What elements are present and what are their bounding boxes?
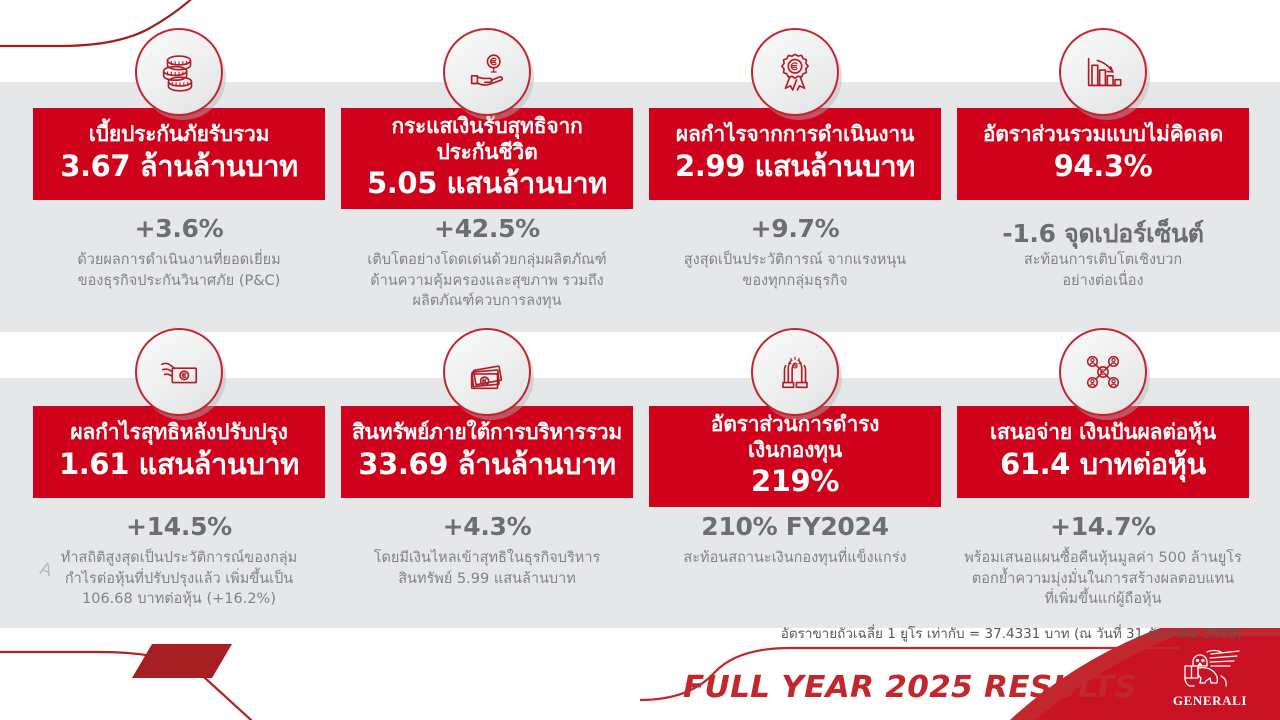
metric-value: 3.67 ล้านล้านบาท [60,149,298,184]
metric-card: ผลกำไรสุทธิหลังปรับปรุง 1.61 แสนล้านบาท … [33,328,325,628]
metrics-row-bottom: ผลกำไรสุทธิหลังปรับปรุง 1.61 แสนล้านบาท … [0,328,1280,628]
metric-delta: +42.5% [341,214,633,243]
metric-note: โดยมีเงินไหลเข้าสุทธิในธุรกิจบริหารสินทร… [341,548,633,589]
metric-headline-box: เบี้ยประกันภัยรับรวม 3.67 ล้านล้านบาท [33,108,325,200]
metric-headline-box: อัตราส่วนรวมแบบไม่คิดลด 94.3% [957,108,1249,200]
generali-wordmark: GENERALI [1173,693,1247,709]
metric-delta: +9.7% [649,214,941,243]
metric-card: เบี้ยประกันภัยรับรวม 3.67 ล้านล้านบาท +3… [33,28,325,328]
metric-title: เสนอจ่าย เงินปันผลต่อหุ้น [990,420,1216,446]
metric-value: 33.69 ล้านล้านบาท [358,447,615,482]
metric-headline-box: เสนอจ่าย เงินปันผลต่อหุ้น 61.4 บาทต่อหุ้… [957,406,1249,498]
metrics-row-top: เบี้ยประกันภัยรับรวม 3.67 ล้านล้านบาท +3… [0,28,1280,328]
exchange-rate-note: อัตราขายถัวเฉลี่ย 1 ยูโร เท่ากับ = 37.43… [781,622,1242,644]
metric-card: กระแสเงินรับสุทธิจากประกันชีวิต 5.05 แสน… [341,28,633,328]
metric-card: สินทรัพย์ภายใต้การบริหารรวม 33.69 ล้านล้… [341,328,633,628]
metric-note: สะท้อนสถานะเงินกองทุนที่แข็งแกร่ง [649,548,941,569]
declining-bar-chart-icon [1059,28,1147,116]
metric-value: 61.4 บาทต่อหุ้น [1000,447,1206,482]
metric-card: เสนอจ่าย เงินปันผลต่อหุ้น 61.4 บาทต่อหุ้… [957,328,1249,628]
metric-note: เติบโตอย่างโดดเด่นด้วยกลุ่มผลิตภัณฑ์ด้าน… [341,250,633,312]
metric-delta: +3.6% [33,214,325,243]
metric-value: 1.61 แสนล้านบาท [59,447,299,482]
metric-note: ทำสถิติสูงสุดเป็นประวัติการณ์ของกลุ่มกำไ… [33,548,325,610]
metric-card: อัตราส่วนการดำรงเงินกองทุน 219% 210% FY2… [649,328,941,628]
metric-card: ผลกำไรจากการดำเนินงาน 2.99 แสนล้านบาท +9… [649,28,941,328]
metric-value: 219% [751,464,839,499]
award-ribbon-euro-icon [751,28,839,116]
metric-delta: +14.7% [957,512,1249,541]
hand-euro-coin-icon [443,28,531,116]
winged-lion-icon [1177,648,1243,692]
metric-value: 94.3% [1054,149,1153,184]
metric-note: ด้วยผลการดำเนินงานที่ยอดเยี่ยมของธุรกิจป… [33,250,325,291]
metric-title: ผลกำไรสุทธิหลังปรับปรุง [70,420,287,446]
metric-headline-box: ผลกำไรจากการดำเนินงาน 2.99 แสนล้านบาท [649,108,941,200]
metric-title: อัตราส่วนการดำรงเงินกองทุน [711,412,879,463]
metric-delta: +4.3% [341,512,633,541]
metric-card: อัตราส่วนรวมแบบไม่คิดลด 94.3% -1.6 จุดเป… [957,28,1249,328]
metric-title: ผลกำไรจากการดำเนินงาน [676,122,914,148]
metric-value: 2.99 แสนล้านบาท [675,149,915,184]
stacked-coins-icon [135,28,223,116]
metric-title: สินทรัพย์ภายใต้การบริหารรวม [352,420,622,446]
metric-title: กระแสเงินรับสุทธิจากประกันชีวิต [391,114,582,165]
metric-note: พร้อมเสนอแผนซื้อคืนหุ้นมูลค่า 500 ล้านยู… [957,548,1249,610]
metric-value: 5.05 แสนล้านบาท [367,166,607,201]
metric-headline-box: กระแสเงินรับสุทธิจากประกันชีวิต 5.05 แสน… [341,108,633,209]
metric-delta: 210% FY2024 [649,512,941,541]
metric-delta: +14.5% [33,512,325,541]
metric-title: เบี้ยประกันภัยรับรวม [89,122,269,148]
footer-title: FULL YEAR 2025 RESULTS [683,670,1137,705]
metric-headline-box: สินทรัพย์ภายใต้การบริหารรวม 33.69 ล้านล้… [341,406,633,498]
metric-note: สะท้อนการเติบโตเชิงบวกอย่างต่อเนื่อง [957,250,1249,291]
people-network-euro-icon [1059,328,1147,416]
hand-banknote-icon [135,328,223,416]
metric-title: อัตราส่วนรวมแบบไม่คิดลด [983,122,1223,148]
metric-headline-box: อัตราส่วนการดำรงเงินกองทุน 219% [649,406,941,507]
generali-logo: GENERALI [1162,648,1258,716]
metric-delta: -1.6 จุดเปอร์เซ็นต์ [957,214,1249,254]
metric-headline-box: ผลกำไรสุทธิหลังปรับปรุง 1.61 แสนล้านบาท [33,406,325,498]
banknotes-stack-icon [443,328,531,416]
metric-note: สูงสุดเป็นประวัติการณ์ จากแรงหนุนของทุกก… [649,250,941,291]
protecting-hands-euro-icon [751,328,839,416]
